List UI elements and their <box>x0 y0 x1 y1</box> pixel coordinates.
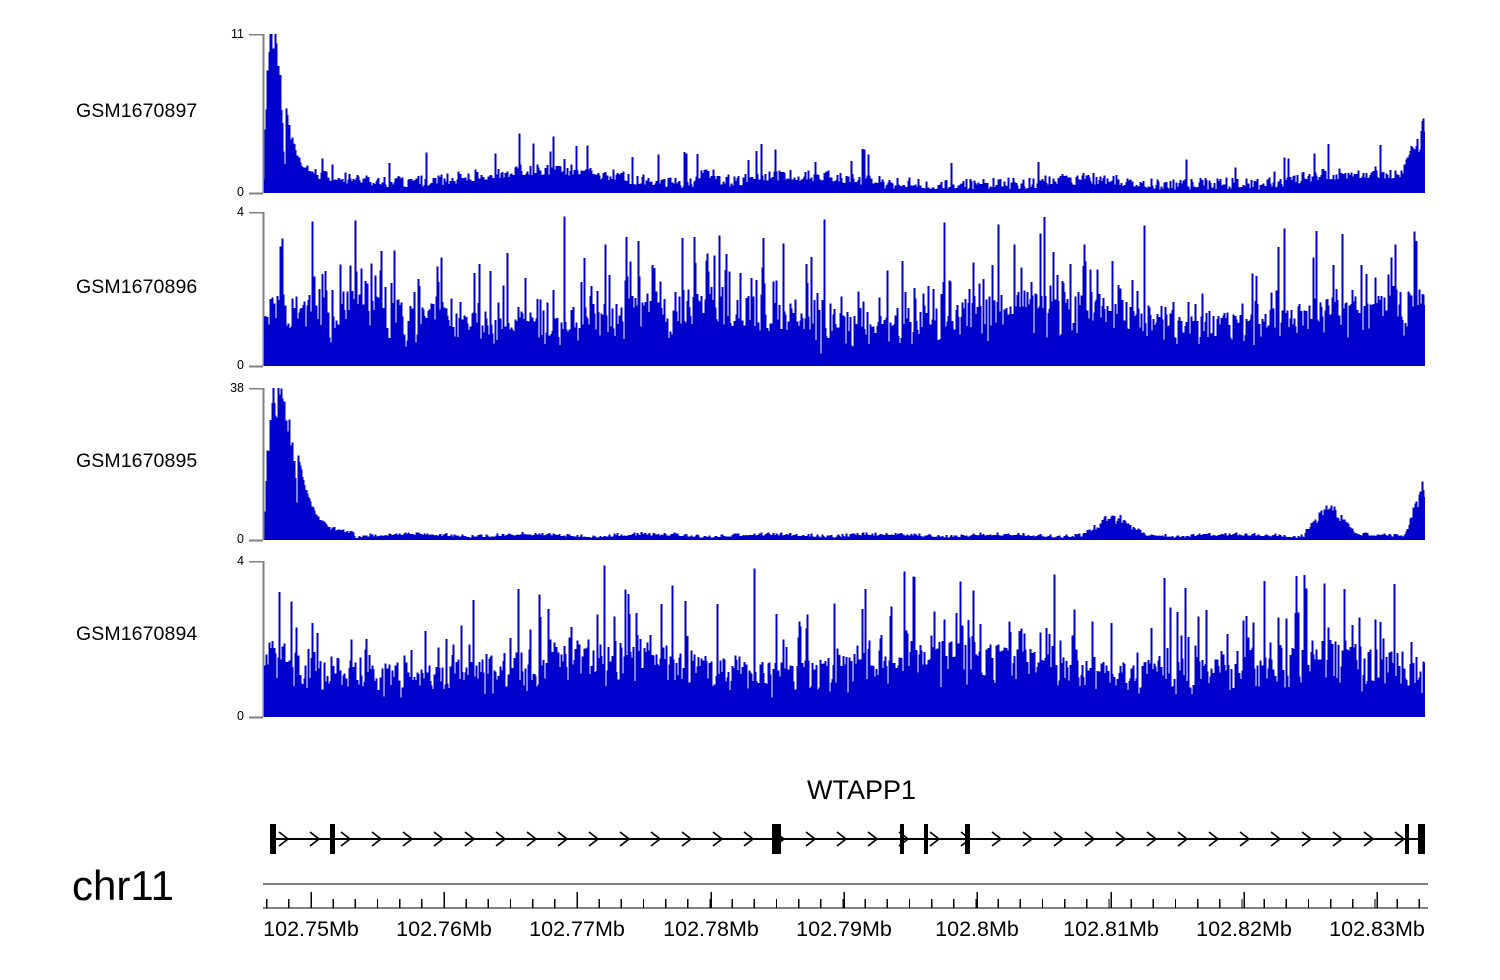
track-label-gsm1670894: GSM1670894 <box>76 625 197 645</box>
track-label-gsm1670895: GSM1670895 <box>76 452 197 472</box>
coordinate-tick-label: 102.78Mb <box>663 919 759 941</box>
coverage-plot-gsm1670897[interactable] <box>264 34 1425 193</box>
axis-min-label-2: 0 <box>196 533 244 546</box>
coordinate-tick-label: 102.75Mb <box>263 919 359 941</box>
coverage-plot-gsm1670894[interactable] <box>264 561 1425 717</box>
chromosome-label: chr11 <box>72 865 174 907</box>
coordinate-tick-label: 102.81Mb <box>1063 919 1159 941</box>
genome-browser-viewer: GSM1670897 11 0 GSM1670896 4 0 GSM167089… <box>0 0 1500 980</box>
axis-max-label-1: 4 <box>196 206 244 219</box>
gene-model-track[interactable] <box>264 818 1429 860</box>
gene-name-label: WTAPP1 <box>807 777 916 804</box>
axis-min-label-3: 0 <box>196 710 244 723</box>
axis-max-label-2: 38 <box>196 382 244 395</box>
coordinate-tick-label: 102.8Mb <box>935 919 1019 941</box>
axis-max-label-0: 11 <box>196 28 244 41</box>
coverage-plot-gsm1670896[interactable] <box>264 212 1425 366</box>
coordinate-tick-label: 102.79Mb <box>796 919 892 941</box>
coordinate-tick-label: 102.83Mb <box>1329 919 1425 941</box>
coordinate-tick-label: 102.76Mb <box>396 919 492 941</box>
coordinate-tick-label: 102.77Mb <box>529 919 625 941</box>
axis-min-label-0: 0 <box>196 186 244 199</box>
track-label-gsm1670897: GSM1670897 <box>76 102 197 122</box>
coordinate-tick-label: 102.82Mb <box>1196 919 1292 941</box>
axis-max-label-3: 4 <box>196 555 244 568</box>
axis-min-label-1: 0 <box>196 359 244 372</box>
track-label-gsm1670896: GSM1670896 <box>76 278 197 298</box>
coverage-plot-gsm1670895[interactable] <box>264 388 1425 540</box>
